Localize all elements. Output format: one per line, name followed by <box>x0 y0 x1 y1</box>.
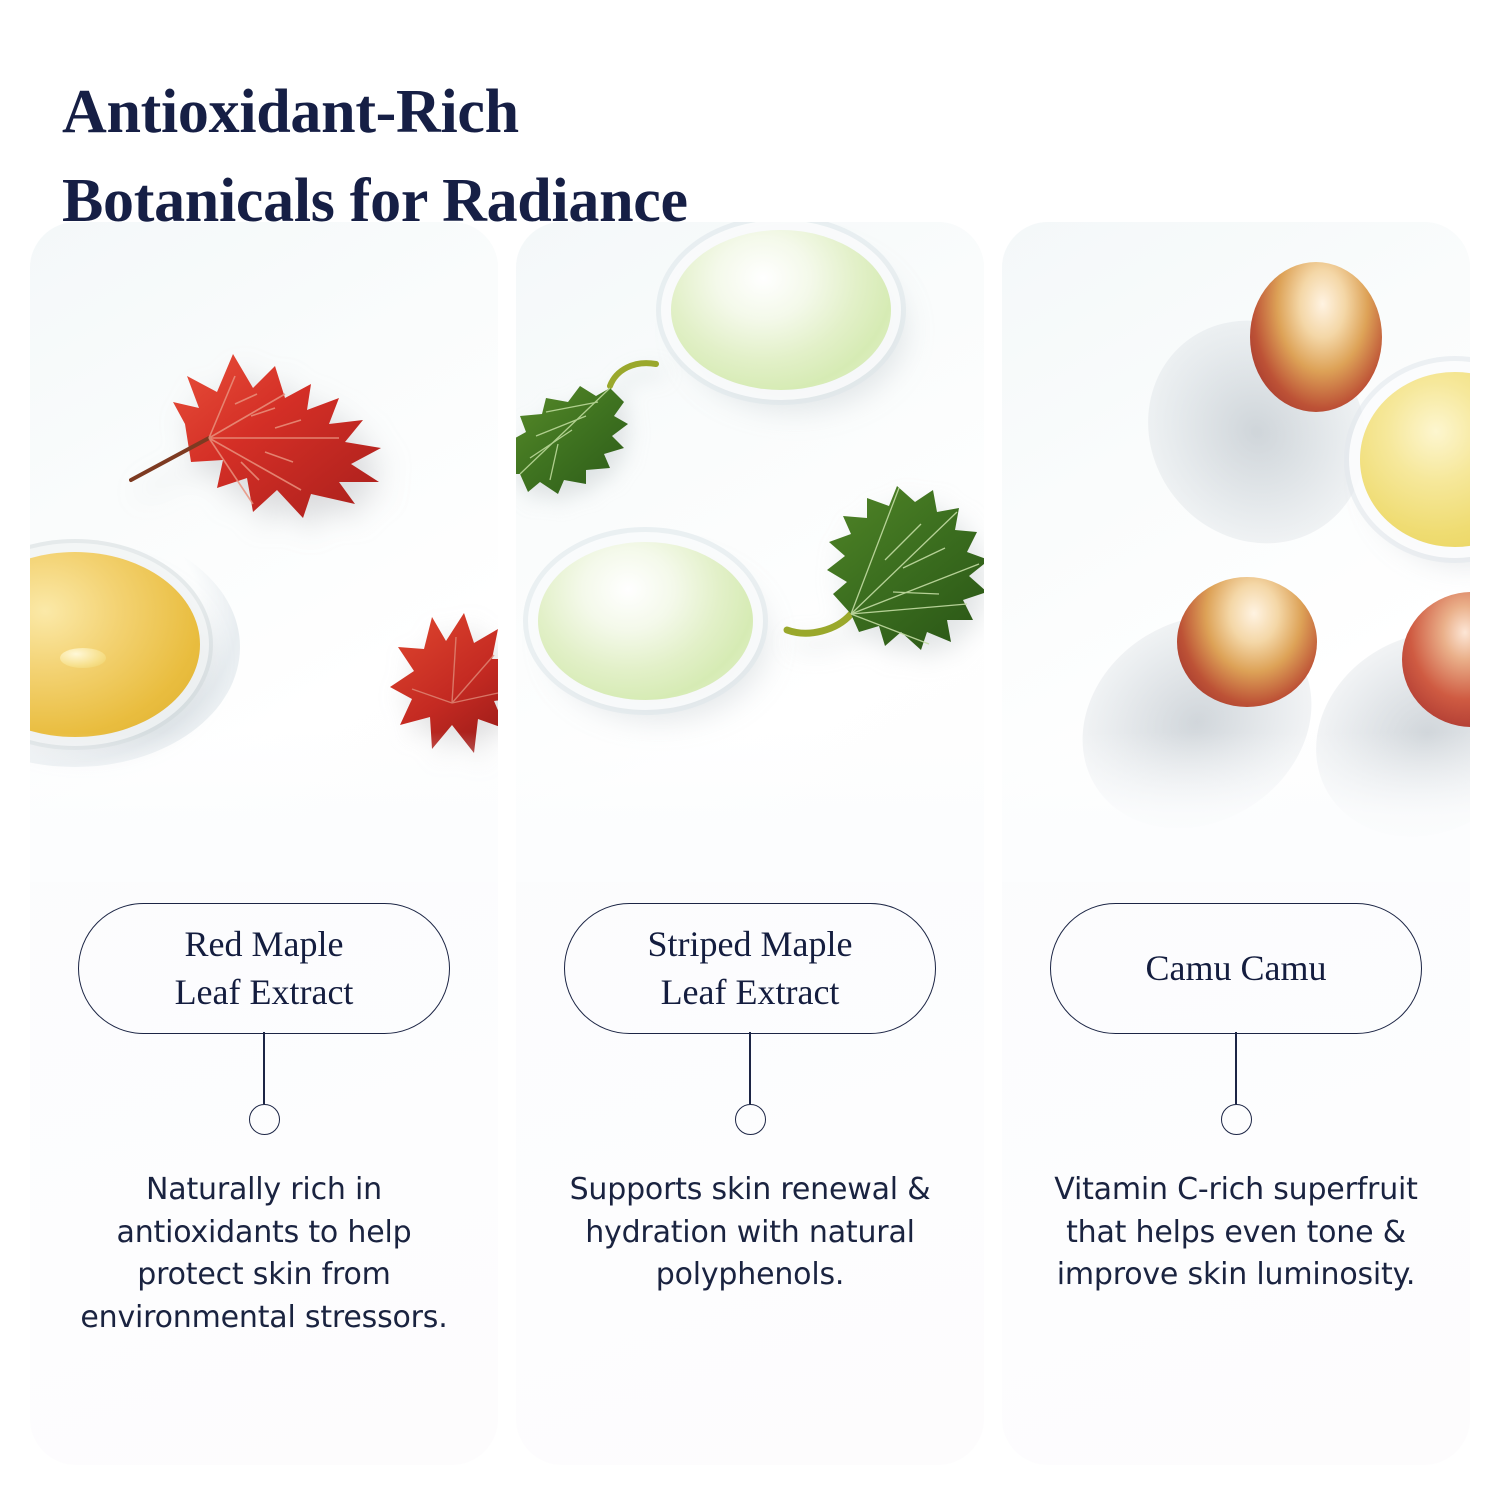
petri-dish-icon-top <box>671 230 891 390</box>
maple-leaf-icon <box>125 332 415 532</box>
maple-leaf-icon-right <box>781 472 984 652</box>
ingredient-description-red-maple: Naturally rich in antioxidants to help p… <box>64 1169 464 1339</box>
berry-icon <box>1177 577 1317 707</box>
connector-node-circle <box>249 1104 280 1135</box>
ingredient-label-pill-camu-camu[interactable]: Camu Camu <box>1050 903 1422 1034</box>
page-title-line-1: Antioxidant-Rich <box>62 68 1262 158</box>
ingredient-card-camu-camu[interactable]: Camu Camu Vitamin C-rich superfruit that… <box>1002 222 1470 1465</box>
ingredient-label-line-1: Red Maple <box>185 924 344 964</box>
card-photo-camu-camu <box>1002 222 1470 882</box>
page-title: Antioxidant-Rich Botanicals for Radiance <box>62 68 1262 248</box>
berry-icon <box>1250 262 1382 412</box>
maple-leaf-icon-left <box>516 358 681 508</box>
card-photo-striped-maple <box>516 222 984 882</box>
connector-line <box>1235 1032 1237 1104</box>
connector-node-circle <box>735 1104 766 1135</box>
infographic-page: Antioxidant-Rich Botanicals for Radiance <box>0 0 1500 1500</box>
ingredient-label-text: Striped Maple Leaf Extract <box>630 921 871 1016</box>
ingredient-description-camu-camu: Vitamin C-rich superfruit that helps eve… <box>1036 1169 1436 1297</box>
ingredient-card-row: Red Maple Leaf Extract Naturally rich in… <box>30 222 1470 1465</box>
ingredient-description-striped-maple: Supports skin renewal & hydration with n… <box>550 1169 950 1297</box>
ingredient-label-pill-red-maple[interactable]: Red Maple Leaf Extract <box>78 903 450 1034</box>
ingredient-card-striped-maple[interactable]: Striped Maple Leaf Extract Supports skin… <box>516 222 984 1465</box>
petri-dish-icon-bottom <box>538 542 753 700</box>
connector-node-circle <box>1221 1104 1252 1135</box>
connector-line <box>749 1032 751 1104</box>
maple-leaf-icon-secondary <box>390 607 498 757</box>
ingredient-label-text: Camu Camu <box>1128 945 1345 993</box>
ingredient-label-text: Red Maple Leaf Extract <box>157 921 372 1016</box>
ingredient-label-line-2: Leaf Extract <box>175 972 354 1012</box>
ingredient-label-pill-striped-maple[interactable]: Striped Maple Leaf Extract <box>564 903 936 1034</box>
connector-line <box>263 1032 265 1104</box>
ingredient-label-line-1: Striped Maple <box>648 924 853 964</box>
ingredient-label-line-2: Leaf Extract <box>661 972 840 1012</box>
ingredient-label-line-1: Camu Camu <box>1146 948 1327 988</box>
card-photo-red-maple <box>30 222 498 882</box>
ingredient-card-red-maple[interactable]: Red Maple Leaf Extract Naturally rich in… <box>30 222 498 1465</box>
